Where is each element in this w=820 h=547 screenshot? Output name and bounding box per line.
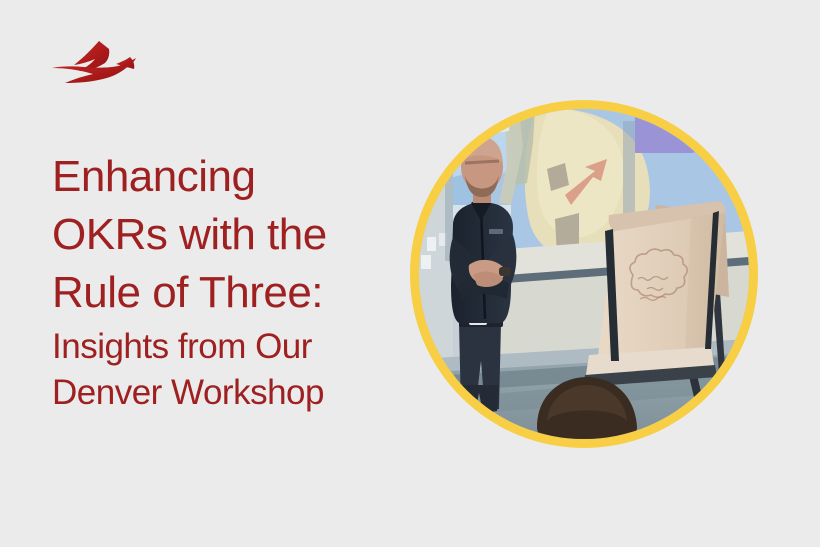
title-line-3: Rule of Three:: [52, 264, 412, 322]
subtitle-line-2: Denver Workshop: [52, 370, 412, 416]
title-line-2: OKRs with the: [52, 206, 412, 264]
workshop-photo: [419, 109, 749, 439]
swallow-bird-logo: [50, 38, 146, 96]
workshop-photo-ring: [410, 100, 758, 448]
subtitle-line-1: Insights from Our: [52, 322, 412, 370]
title-line-1: Enhancing: [52, 148, 412, 206]
headline-block: Enhancing OKRs with the Rule of Three: I…: [52, 148, 412, 416]
header-graphic-canvas: Enhancing OKRs with the Rule of Three: I…: [0, 0, 820, 547]
